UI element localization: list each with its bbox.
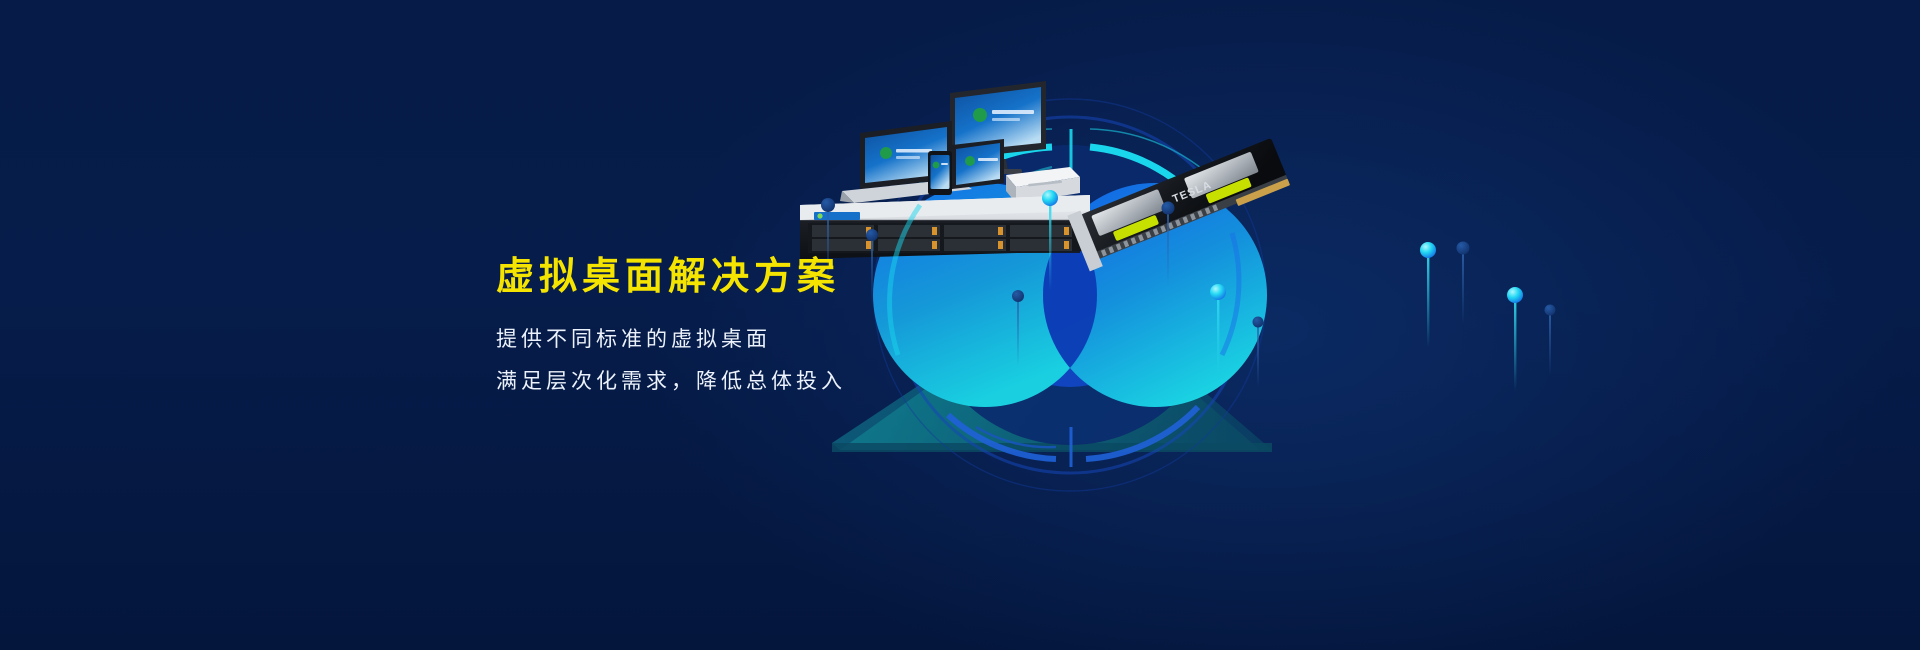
hero-copy: 虚拟桌面解决方案 提供不同标准的虚拟桌面 满足层次化需求，降低总体投入 [496,255,916,403]
tablet [952,139,1004,189]
smartphone [928,151,952,195]
page-title: 虚拟桌面解决方案 [496,255,916,301]
subtitle-line-1: 提供不同标准的虚拟桌面 [496,319,916,361]
hero-banner: TESLA [0,0,1920,650]
subtitle-line-2: 满足层次化需求，降低总体投入 [496,361,916,403]
subtitle-block: 提供不同标准的虚拟桌面 满足层次化需求，降低总体投入 [496,319,916,403]
device-cluster [800,81,1090,259]
rack-server [800,195,1090,259]
